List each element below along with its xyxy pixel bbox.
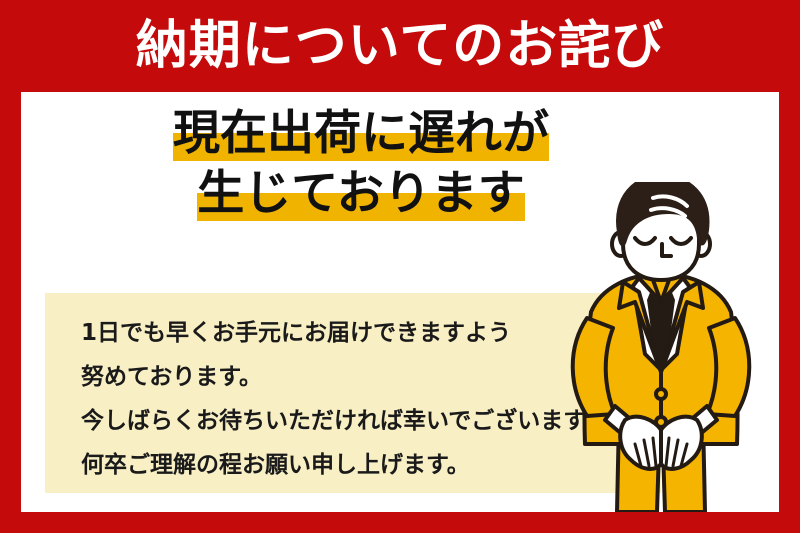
content-panel: 現在出荷に遅れが 生じております 1日でも早くお手元にお届けできますよう 努めて…	[21, 92, 779, 512]
headline-line-2: 生じております	[197, 166, 525, 222]
headline-line-1: 現在出荷に遅れが	[173, 106, 549, 162]
headline-line-2-text: 生じております	[197, 166, 525, 221]
bowing-businessman-illustration	[561, 182, 761, 512]
page-title: 納期についてのお詫び	[136, 20, 664, 72]
header-band: 納期についてのお詫び	[0, 0, 800, 92]
bowing-businessman-svg	[561, 182, 761, 512]
apology-notice-poster: 納期についてのお詫び 現在出荷に遅れが 生じております 1日でも早くお手元にお届…	[0, 0, 800, 533]
headline-line-1-text: 現在出荷に遅れが	[173, 106, 549, 161]
headline-row-1: 現在出荷に遅れが	[21, 106, 701, 162]
